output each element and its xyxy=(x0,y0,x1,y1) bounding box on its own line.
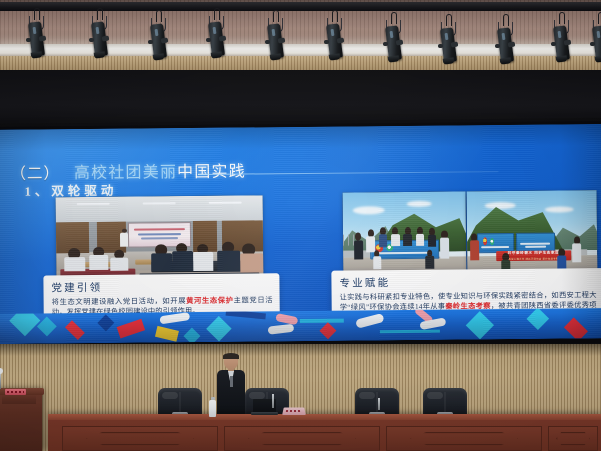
photo-blue-banner-a xyxy=(477,233,514,253)
classroom-meeting-photo xyxy=(56,195,264,285)
photo-presenter xyxy=(120,233,128,247)
slide-title-part-b: 中国实践 xyxy=(177,158,246,183)
stage-spotlight-icon xyxy=(553,18,570,64)
stage-conference-table xyxy=(48,414,601,451)
stage-spotlight-icon xyxy=(497,20,514,66)
stage-spotlight-icon xyxy=(385,18,402,64)
red-banner-sub-text: 西安工程大学 绿风环保协会 秦岭生态考察 xyxy=(508,256,558,260)
card-body-before: 将生态文明建设融入党日活动，如开展 xyxy=(52,296,187,306)
presentation-slide: （二） 高校社团美丽 中国实践 1、双轮驱动 xyxy=(0,124,601,344)
card-heading: 专业赋能 xyxy=(339,273,596,290)
card-body-highlight: 黄河生态保护 xyxy=(186,296,234,305)
mountain-group-photo-left xyxy=(343,191,467,280)
table-nameplate xyxy=(282,408,306,415)
stage-spotlight-icon xyxy=(208,14,225,60)
stage-spotlight-icon xyxy=(440,20,457,66)
photo-blue-banner-b xyxy=(516,233,555,253)
above-screen-dark-band xyxy=(0,70,601,128)
under-screen-shadow xyxy=(0,344,601,356)
desk-microphone-icon xyxy=(272,394,274,408)
laptop xyxy=(251,399,278,416)
desk-microphone-icon-2 xyxy=(378,398,380,410)
led-screen: （二） 高校社团美丽 中国实践 1、双轮驱动 xyxy=(0,124,601,344)
card-heading: 党建引领 xyxy=(51,278,272,295)
stage-spotlight-icon xyxy=(592,18,601,64)
podium-nameplate xyxy=(5,389,26,395)
slide-bottom-decoration xyxy=(0,308,601,344)
led-screen-bezel: （二） 高校社团美丽 中国实践 1、双轮驱动 xyxy=(0,121,601,349)
mountain-group-photo-right: 共守秦岭碧水 同护生态家园 西安工程大学 绿风环保协会 秦岭生态考察 xyxy=(467,190,598,279)
podium-neck xyxy=(2,395,36,404)
microphone-icon xyxy=(0,372,1,389)
stage-spotlight-icon xyxy=(28,14,45,60)
lighting-truss xyxy=(0,2,601,11)
table-top-edge xyxy=(48,414,601,420)
stage-spotlight-icon xyxy=(91,14,108,60)
stage-spotlight-icon xyxy=(326,16,343,62)
water-bottle xyxy=(209,400,216,417)
presenter-person xyxy=(216,354,246,416)
stage-spotlight-icon xyxy=(150,16,167,62)
screenshot-root: （二） 高校社团美丽 中国实践 1、双轮驱动 xyxy=(0,0,601,451)
stage-spotlight-icon xyxy=(267,16,284,62)
lectern-podium xyxy=(0,388,42,451)
